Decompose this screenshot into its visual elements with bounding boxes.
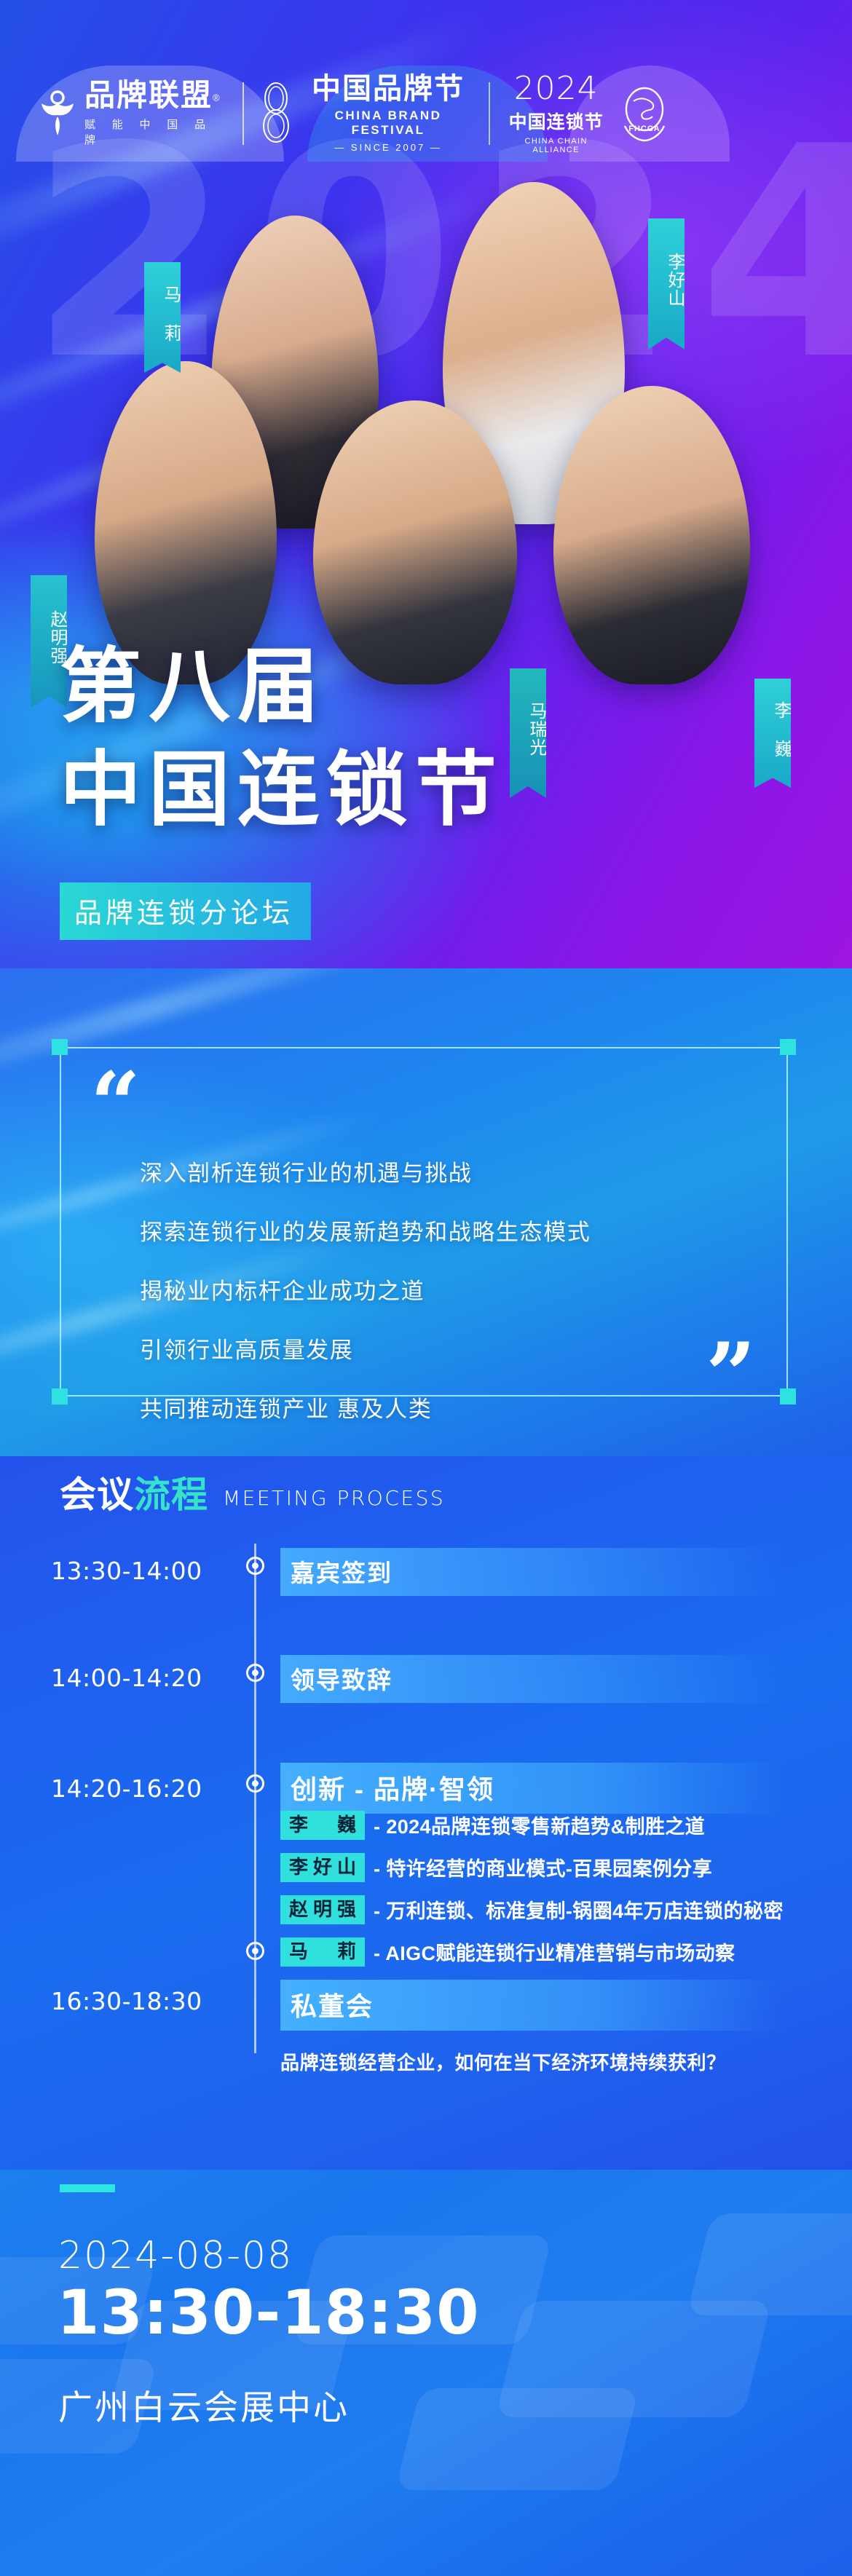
footer-card-7 (395, 2388, 639, 2490)
agenda-talk-speaker: 马 莉 (280, 1937, 365, 1967)
agenda-talk-speaker: 李好山 (280, 1853, 365, 1882)
quote-corner-top-right (780, 1039, 796, 1055)
timeline-axis (254, 1544, 256, 2053)
chain-festival-text: 2024 中国连锁节 CHINA CHAIN ALLIANCE (505, 73, 607, 154)
agenda-row-title: 嘉宾签到 (280, 1548, 783, 1596)
brand-alliance-text: 品牌联盟® 赋 能 中 国 品 牌 (84, 80, 228, 147)
agenda-talk-topic-text: 2024品牌连锁零售新趋势&制胜之道 (386, 1816, 705, 1838)
event-date: 2024-08-08 (58, 2234, 293, 2277)
agenda-talk-topic-text: 特许经营的商业模式-百果园案例分享 (386, 1858, 712, 1880)
quote-corner-bottom-right (780, 1388, 796, 1404)
page-title-line1: 第八届 (60, 639, 326, 734)
brand-festival-since: — SINCE 2007 — (302, 142, 475, 153)
agenda-talk-topic: - AIGC赋能连锁行业精准营销与市场动察 (374, 1937, 735, 1966)
agenda-talk: 李好山 - 特许经营的商业模式-百果园案例分享 (280, 1853, 712, 1882)
footer-section (0, 2170, 852, 2576)
event-time: 13:30-18:30 (57, 2280, 480, 2345)
chain-festival-name: 中国连锁节 (505, 108, 607, 134)
speaker-nametag-li-haoshan: 李好山 (648, 218, 685, 349)
brand-alliance-tagline: 赋 能 中 国 品 牌 (84, 116, 228, 147)
quote-line: 引领行业高质量发展 (140, 1332, 752, 1364)
quote-line: 探索连锁行业的发展新趋势和战略生态模式 (140, 1214, 752, 1246)
agenda-row-title: 领导致辞 (280, 1655, 783, 1703)
agenda-heading-cn: 会议流程 (60, 1477, 208, 1513)
quote-line: 共同推动连锁产业 惠及人类 (140, 1391, 752, 1423)
quote-open-mark-icon: “ (90, 1073, 141, 1136)
quote-corner-top-left (52, 1039, 68, 1055)
agenda-talk-dash: - (374, 1816, 380, 1838)
agenda-talk-topic: - 特许经营的商业模式-百果园案例分享 (374, 1853, 712, 1881)
page-title-line2: 中国连锁节 (60, 744, 504, 837)
logo-bar: 品牌联盟® 赋 能 中 国 品 牌 中国品牌节 CHINA (16, 67, 671, 160)
timeline-dot (246, 1557, 264, 1575)
agenda-heading-en: MEETING PROCESS (223, 1486, 445, 1513)
agenda-talk: 李 巍 - 2024品牌连锁零售新趋势&制胜之道 (280, 1811, 705, 1840)
timeline-dot (246, 1664, 264, 1682)
agenda-talk-dash: - (374, 1943, 380, 1964)
chain-festival-year: 2024 (505, 73, 607, 105)
agenda-row-title: 私董会 (280, 1980, 783, 2031)
agenda-row-time: 16:30-18:30 (51, 1987, 233, 2015)
agenda-heading-cn-white: 会议 (60, 1474, 134, 1516)
infinity-icon (259, 81, 293, 147)
logo-chain-festival: 2024 中国连锁节 CHINA CHAIN ALLIANCE FHCCA (505, 67, 671, 160)
logo-brand-festival: 中国品牌节 CHINA BRAND FESTIVAL — SINCE 2007 … (259, 67, 475, 160)
brand-festival-text: 中国品牌节 CHINA BRAND FESTIVAL — SINCE 2007 … (302, 74, 475, 153)
agenda-row-note: 品牌连锁经营企业，如何在当下经济环境持续获利？ (280, 2048, 726, 2075)
logo-brand-alliance: 品牌联盟® 赋 能 中 国 品 牌 (35, 67, 228, 160)
agenda-row-time: 14:00-14:20 (51, 1664, 233, 1692)
agenda-talk-topic: - 万利连锁、标准复制-锅圈4年万店连锁的秘密 (374, 1895, 784, 1924)
agenda-talk: 马 莉 - AIGC赋能连锁行业精准营销与市场动察 (280, 1937, 735, 1967)
speaker-nametag-li-wei: 李 巍 (754, 679, 791, 788)
brand-alliance-name: 品牌联盟 (84, 77, 213, 113)
agenda-heading: 会议流程 MEETING PROCESS (60, 1477, 445, 1513)
fhcca-globe-icon: FHCCA (618, 85, 671, 142)
chain-festival-name-en: CHINA CHAIN ALLIANCE (505, 137, 607, 154)
quote-box: “ ” 深入剖析连锁行业的机遇与挑战 探索连锁行业的发展新趋势和战略生态模式 揭… (60, 1047, 788, 1396)
poster-root: 2024 品牌联盟® 赋 能 中 国 品 牌 (0, 0, 852, 2576)
speaker-portraits: 马 莉 李好山 赵明强 马瑞光 李 巍 (0, 182, 852, 684)
timeline-dot (246, 1774, 264, 1793)
agenda-row-time: 14:20-16:20 (51, 1774, 233, 1803)
agenda-talk-topic-text: AIGC赋能连锁行业精准营销与市场动察 (385, 1943, 735, 1964)
agenda-talk-topic: - 2024品牌连锁零售新趋势&制胜之道 (374, 1811, 705, 1839)
quote-lines: 深入剖析连锁行业的机遇与挑战 探索连锁行业的发展新趋势和战略生态模式 揭秘业内标… (140, 1155, 752, 1450)
agenda-talk: 赵明强 - 万利连锁、标准复制-锅圈4年万店连锁的秘密 (280, 1895, 784, 1924)
quote-line: 揭秘业内标杆企业成功之道 (140, 1273, 752, 1305)
agenda-row-time: 13:30-14:00 (51, 1557, 233, 1585)
agenda-timeline: 13:30-14:00 嘉宾签到 14:00-14:20 领导致辞 14:20-… (0, 1544, 852, 2126)
page-subtitle: 品牌连锁分论坛 (60, 882, 311, 940)
speaker-nametag-ma-ruiguang: 马瑞光 (510, 668, 546, 798)
agenda-row-title: 创新 - 品牌·智领 (280, 1763, 783, 1814)
agenda-talk-dash: - (374, 1858, 380, 1880)
footer-card-6 (687, 2213, 852, 2315)
agenda-talk-speaker: 李 巍 (280, 1811, 365, 1840)
agenda-heading-cn-green: 流程 (134, 1474, 208, 1516)
agenda-talk-dash: - (374, 1900, 380, 1922)
brand-festival-name: 中国品牌节 (302, 74, 475, 103)
quote-line: 深入剖析连锁行业的机遇与挑战 (140, 1155, 752, 1188)
brand-festival-name-en: CHINA BRAND FESTIVAL (302, 108, 475, 138)
page-title: 第八届 中国连锁节 (60, 641, 504, 837)
timeline-dot (246, 1942, 264, 1960)
fhcca-label: FHCCA (618, 125, 671, 133)
brand-alliance-mark-icon (35, 87, 80, 140)
agenda-talk-topic-text: 万利连锁、标准复制-锅圈4年万店连锁的秘密 (386, 1900, 783, 1922)
agenda-talk-speaker: 赵明强 (280, 1895, 365, 1924)
quote-corner-bottom-left (52, 1388, 68, 1404)
footer-accent-bar (60, 2184, 115, 2192)
registered-mark-icon: ® (213, 92, 220, 103)
speaker-nametag-ma-li: 马 莉 (144, 262, 181, 373)
event-venue: 广州白云会展中心 (58, 2379, 350, 2430)
